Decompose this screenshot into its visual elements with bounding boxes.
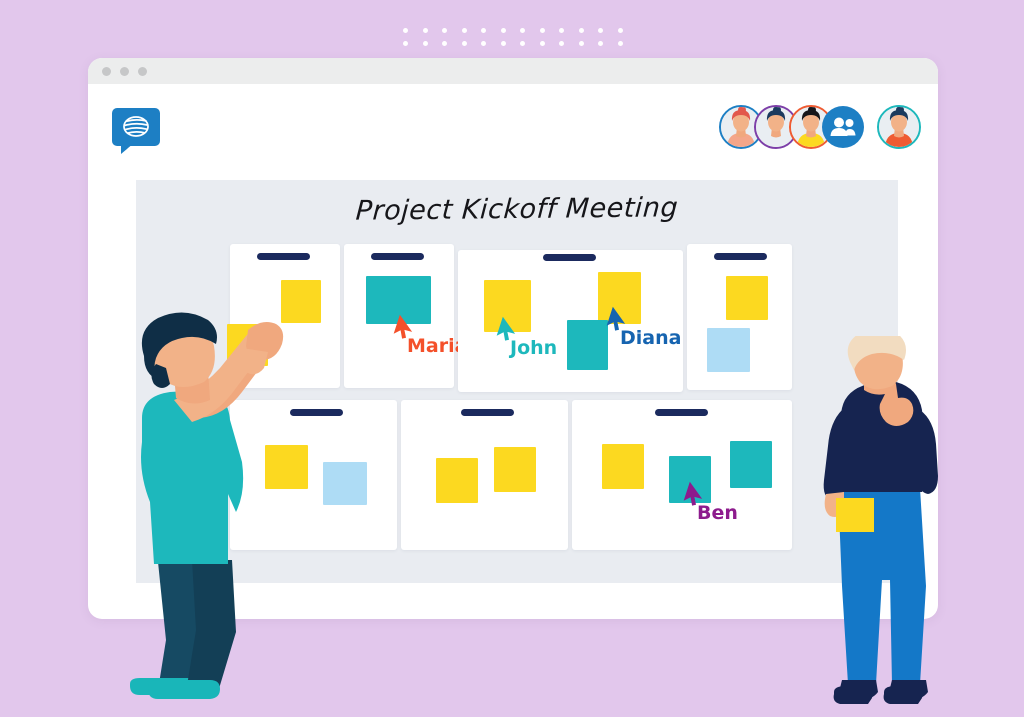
decor-dot (423, 41, 428, 46)
window-titlebar (88, 58, 938, 84)
collaborator-avatar-stack (719, 104, 921, 149)
decor-dot (423, 28, 428, 33)
board-card-7[interactable]: Ben (572, 400, 792, 550)
sticky-note-blue[interactable] (707, 328, 750, 372)
decor-dot (559, 28, 564, 33)
decor-dot (481, 41, 486, 46)
board-card-4[interactable] (687, 244, 792, 390)
avatar-portrait (879, 107, 919, 147)
avatar-current-user[interactable] (877, 105, 921, 149)
maximize-icon[interactable] (138, 67, 147, 76)
decor-dot (540, 28, 545, 33)
collaborator-cursor-diana: Diana (608, 308, 628, 336)
decor-dot (598, 41, 603, 46)
decor-dot (559, 41, 564, 46)
card-title-placeholder-bar (655, 409, 708, 416)
decor-dot (501, 28, 506, 33)
app-topbar (88, 84, 938, 176)
decor-dot (598, 28, 603, 33)
person-left-placing-note (96, 312, 306, 717)
decorative-dot-grid (396, 24, 630, 50)
cursor-label: John (510, 337, 557, 359)
board-card-3[interactable]: JohnDiana (458, 250, 683, 392)
decor-dot (618, 41, 623, 46)
decor-dot (520, 41, 525, 46)
sticky-note-blue[interactable] (323, 462, 367, 505)
decor-dot (501, 41, 506, 46)
sticky-note-yellow[interactable] (726, 276, 768, 320)
minimize-icon[interactable] (120, 67, 129, 76)
sticky-note-yellow[interactable] (436, 458, 478, 503)
people-group-icon (830, 116, 856, 138)
logo-scribble-icon (112, 108, 160, 152)
sticky-note-teal[interactable] (730, 441, 772, 488)
avatar-group-overflow[interactable] (822, 106, 864, 148)
sticky-note-yellow[interactable] (602, 444, 644, 489)
illustration-stage: Project Kickoff Meeting MariaJohnDianaBe… (0, 0, 1024, 717)
card-title-placeholder-bar (371, 253, 424, 260)
page-title: Project Kickoff Meeting (135, 190, 899, 229)
close-icon[interactable] (102, 67, 111, 76)
collaborator-cursor-ben: Ben (685, 483, 705, 511)
decor-dot (403, 28, 408, 33)
cursor-label: Ben (697, 502, 738, 524)
decor-dot (462, 28, 467, 33)
card-title-placeholder-bar (543, 254, 596, 261)
board-card-2[interactable]: Maria (344, 244, 454, 388)
decor-dot (618, 28, 623, 33)
decor-dot (579, 28, 584, 33)
sticky-note-teal[interactable] (567, 320, 608, 370)
card-title-placeholder-bar (461, 409, 514, 416)
card-title-placeholder-bar (714, 253, 767, 260)
decor-dot (540, 41, 545, 46)
decor-dot (442, 41, 447, 46)
decor-dot (442, 28, 447, 33)
card-title-placeholder-bar (257, 253, 310, 260)
decor-dot (579, 41, 584, 46)
cursor-label: Diana (620, 327, 681, 349)
board-card-6[interactable] (401, 400, 568, 550)
sticky-note-yellow[interactable] (494, 447, 536, 492)
collaborator-cursor-maria: Maria (395, 316, 415, 344)
decor-dot (481, 28, 486, 33)
decor-dot (520, 28, 525, 33)
chat-bubble-logo[interactable] (112, 108, 160, 152)
decor-dot (462, 41, 467, 46)
person-right-thumbs-up (816, 336, 946, 716)
collaborator-cursor-john: John (498, 318, 518, 346)
decor-dot (403, 41, 408, 46)
